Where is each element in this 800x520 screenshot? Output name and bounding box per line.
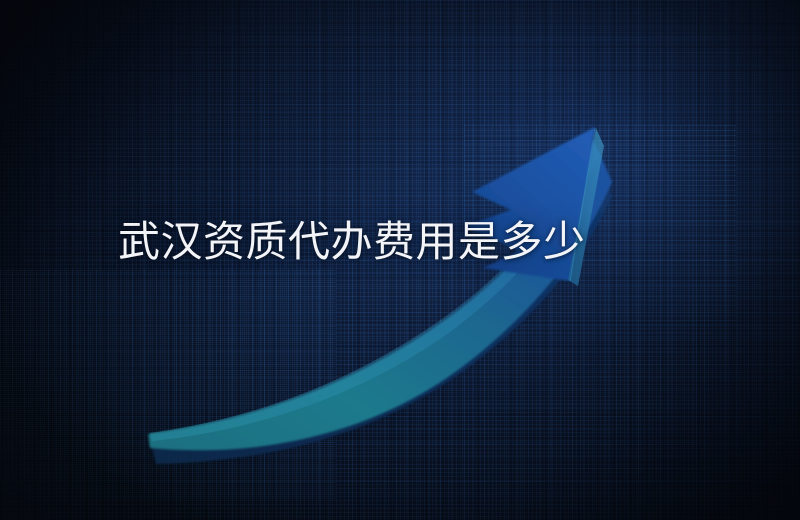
page-title: 武汉资质代办费用是多少 (118, 218, 586, 265)
banner-root: 武汉资质代办费用是多少 (0, 0, 800, 520)
